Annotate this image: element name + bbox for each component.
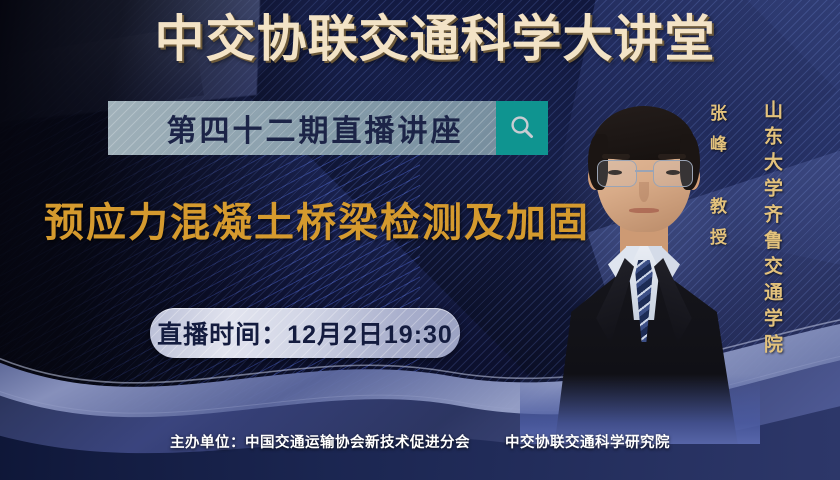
live-lecture-poster: 中交协联交通科学大讲堂 第四十二期直播讲座 预应力混凝土桥梁检测及加固 直播时间… bbox=[0, 0, 840, 480]
footer-organizers: 主办单位：中国交通运输协会新技术促进分会 中交协联交通科学研究院 bbox=[0, 431, 840, 452]
live-time-text: 直播时间：12月2日19:30 bbox=[157, 315, 453, 351]
lecture-topic-title: 预应力混凝土桥梁检测及加固 bbox=[44, 190, 564, 248]
search-button[interactable] bbox=[496, 101, 548, 155]
live-time-badge: 直播时间：12月2日19:30 bbox=[150, 308, 460, 358]
portrait-mouth bbox=[629, 208, 659, 213]
portrait-eyebrow-left bbox=[602, 154, 630, 159]
footer-organizer-secondary: 中交协联交通科学研究院 bbox=[505, 435, 670, 451]
speaker-name-title: 张峰 教授 bbox=[704, 104, 729, 259]
session-banner: 第四十二期直播讲座 bbox=[108, 101, 548, 155]
portrait-nose bbox=[639, 182, 649, 202]
speaker-organization: 山东大学齐鲁交通学院 bbox=[758, 100, 785, 360]
search-icon bbox=[507, 113, 537, 143]
portrait-glasses-bridge bbox=[635, 170, 653, 172]
portrait-lens-left bbox=[597, 160, 637, 187]
page-title: 中交协联交通科学大讲堂 bbox=[0, 14, 840, 64]
footer-organizer-primary: 主办单位：中国交通运输协会新技术促进分会 bbox=[170, 435, 470, 451]
session-label: 第四十二期直播讲座 bbox=[108, 106, 496, 150]
portrait-eyebrow-right bbox=[658, 154, 686, 159]
portrait-lens-right bbox=[653, 160, 693, 187]
